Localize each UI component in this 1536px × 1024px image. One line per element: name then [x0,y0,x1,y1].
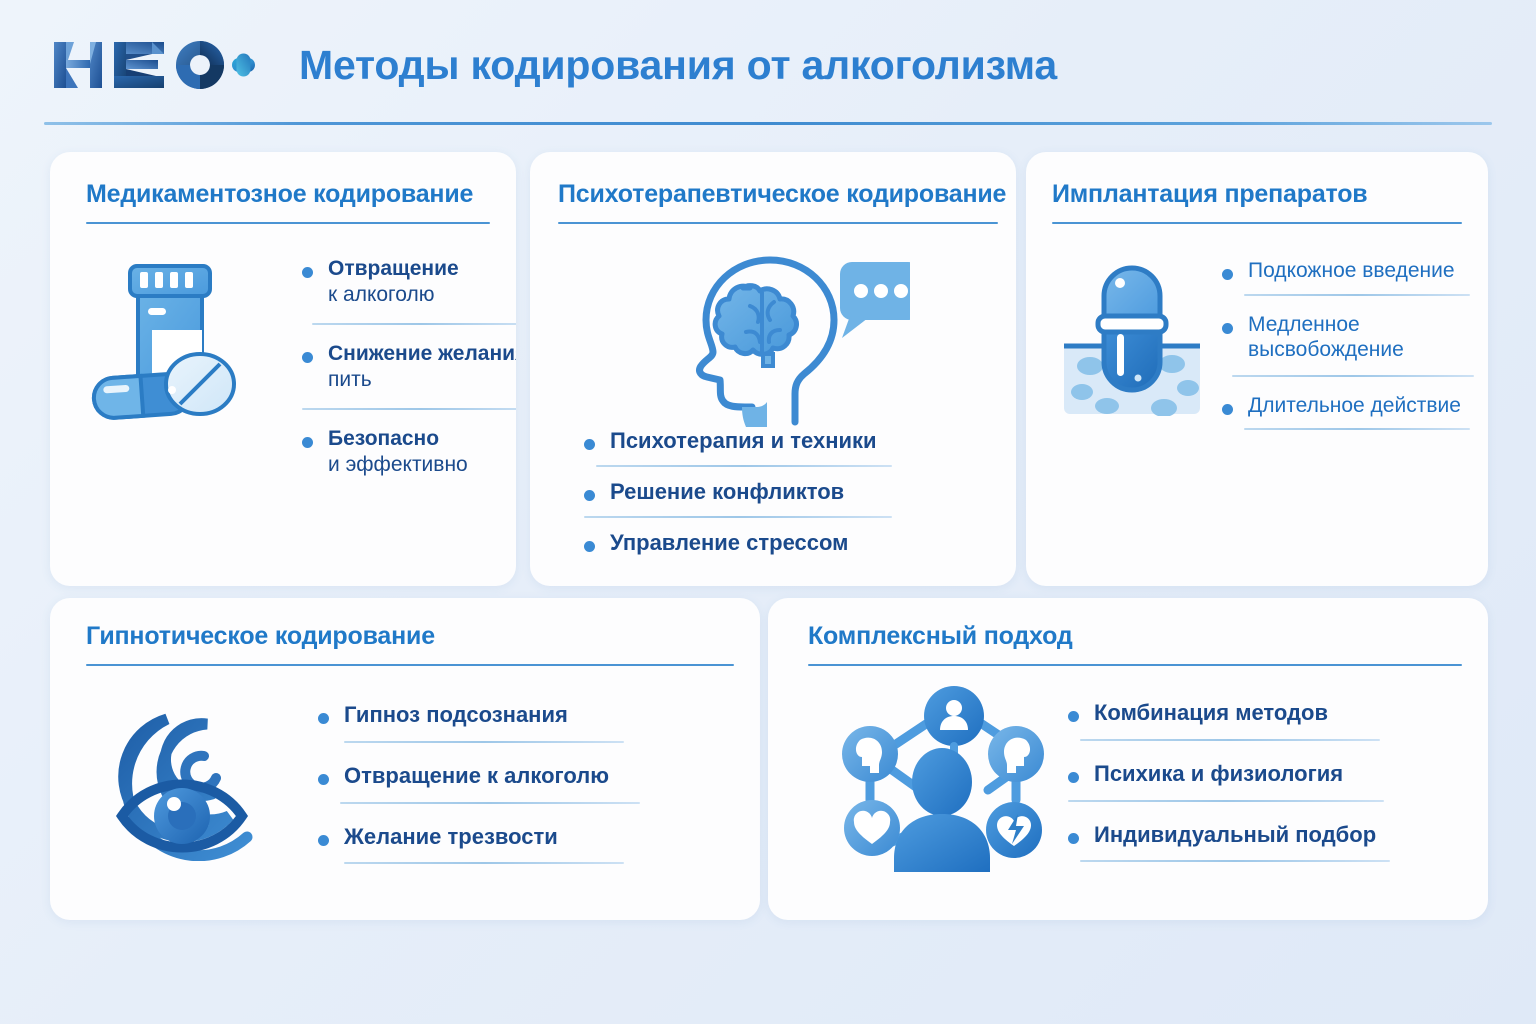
bullet-list: Психотерапия и техники Решение конфликто… [584,428,904,556]
page-title: Методы кодирования от алкоголизма [299,42,1057,89]
card-title: Медикаментозное кодирование [86,180,473,209]
list-divider [1244,294,1470,296]
card-medication[interactable]: Медикаментозное кодирование [50,152,516,586]
bullet-dot-icon [302,267,313,278]
bullet-dot-icon [318,774,329,785]
list-divider [340,802,640,804]
card-title: Гипнотическое кодирование [86,622,435,651]
card-complex-approach[interactable]: Комплексный подход [768,598,1488,920]
list-divider [312,323,516,325]
card-implantation[interactable]: Имплантация препаратов [1026,152,1488,586]
card-title-divider [86,222,490,224]
bullet-dot-icon [1222,404,1233,415]
neo-plus-logo[interactable] [52,36,257,94]
bullet-primary-text: Индивидуальный подбор [1094,822,1408,849]
bullet-list: Гипноз подсознания Отвращение к алкоголю… [318,702,648,864]
list-item[interactable]: Индивидуальный подбор [1068,822,1408,849]
card-body: Гипноз подсознания Отвращение к алкоголю… [50,678,760,920]
bullet-dot-icon [1068,833,1079,844]
card-body: Отвращение к алкоголю Снижение желания п… [50,238,516,586]
bullet-primary-text: Психика и физиология [1094,761,1408,788]
bullet-dot-icon [1068,711,1079,722]
list-item[interactable]: Психотерапия и техники [584,428,904,455]
list-item[interactable]: Снижение желания пить [302,341,516,392]
bullet-primary-text: Снижение желания [328,341,516,367]
card-title: Психотерапевтическое кодирование [558,180,1006,209]
list-item[interactable]: Управление стрессом [584,530,904,557]
bullet-list: Комбинация методов Психика и физиология … [1068,700,1408,862]
bullet-primary-text: Решение конфликтов [610,479,904,506]
card-title-divider [808,664,1462,666]
card-body: Комбинация методов Психика и физиология … [768,678,1488,920]
list-divider [302,408,516,410]
list-divider [1080,739,1380,741]
hypnosis-eye-icon [112,686,292,861]
bullet-dot-icon [1068,772,1079,783]
card-psychotherapy[interactable]: Психотерапевтическое кодирование [530,152,1016,586]
list-item[interactable]: Безопасно и эффективно [302,426,516,477]
bullet-list: Отвращение к алкоголю Снижение желания п… [302,256,516,478]
list-divider [596,465,892,467]
list-item[interactable]: Гипноз подсознания [318,702,648,729]
list-divider [344,741,624,743]
bullet-dot-icon [318,835,329,846]
head-brain-speech-icon [650,250,910,430]
card-title: Имплантация препаратов [1052,180,1367,209]
header-divider [44,122,1492,125]
list-item[interactable]: Отвращение к алкоголю [302,256,516,307]
bullet-secondary-text: к алкоголю [328,282,516,308]
bullet-primary-text: Подкожное введение [1248,258,1474,284]
list-item[interactable]: Комбинация методов [1068,700,1408,727]
list-divider [584,516,892,518]
list-item[interactable]: Подкожное введение [1222,258,1474,284]
card-hypnosis[interactable]: Гипнотическое кодирование [50,598,760,920]
card-body: Психотерапия и техники Решение конфликто… [530,238,1016,586]
list-item[interactable]: Решение конфликтов [584,479,904,506]
list-divider [1232,375,1474,377]
list-item[interactable]: Психика и физиология [1068,761,1408,788]
bullet-primary-text: Психотерапия и техники [610,428,904,455]
bullet-primary-text: Отвращение к алкоголю [344,763,648,790]
bullet-list: Подкожное введение Медленное высвобожден… [1222,258,1474,430]
bullet-primary-text: Длительное действие [1248,393,1474,419]
list-item[interactable]: Отвращение к алкоголю [318,763,648,790]
page-header: Методы кодирования от алкоголизма [0,0,1536,130]
list-divider [1244,428,1470,430]
list-divider [344,862,624,864]
card-title-divider [86,664,734,666]
bullet-secondary-text: и эффективно [328,452,516,478]
bullet-primary-text: Медленное [1248,312,1474,338]
bullet-primary-text: Управление стрессом [610,530,904,557]
bullet-dot-icon [318,713,329,724]
card-body: Подкожное введение Медленное высвобожден… [1026,238,1488,586]
bullet-primary-text: Гипноз подсознания [344,702,648,729]
implant-capsule-icon [1052,256,1212,416]
person-network-icon [830,682,1050,872]
card-title: Комплексный подход [808,622,1073,651]
bullet-dot-icon [302,437,313,448]
card-title-divider [1052,222,1462,224]
bullet-dot-icon [302,352,313,363]
bullet-primary-text: Желание трезвости [344,824,648,851]
list-divider [1080,860,1390,862]
bullet-primary-text: Комбинация методов [1094,700,1408,727]
bullet-dot-icon [1222,269,1233,280]
pill-bottle-icon [80,258,260,428]
list-item[interactable]: Длительное действие [1222,393,1474,419]
list-item[interactable]: Желание трезвости [318,824,648,851]
bullet-dot-icon [584,439,595,450]
card-title-divider [558,222,998,224]
bullet-primary-text: Безопасно [328,426,516,452]
list-divider [1068,800,1384,802]
bullet-dot-icon [584,490,595,501]
bullet-primary-text: Отвращение [328,256,516,282]
bullet-secondary-text: высвобождение [1248,337,1474,363]
list-item[interactable]: Медленное высвобождение [1222,312,1474,363]
bullet-dot-icon [1222,323,1233,334]
bullet-dot-icon [584,541,595,552]
bullet-secondary-text: пить [328,367,516,393]
